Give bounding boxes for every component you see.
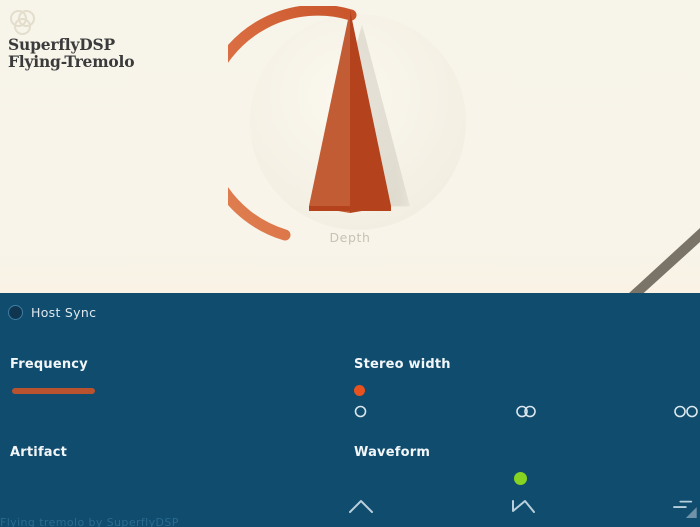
- separate-two-circles-icon[interactable]: [673, 404, 699, 419]
- triangle-wave-icon[interactable]: [348, 498, 374, 518]
- overlapping-circles-logo-icon: [8, 8, 42, 38]
- brand-line-1: SuperflyDSP: [8, 36, 134, 53]
- frequency-slider[interactable]: [12, 388, 95, 394]
- stereo-width-selected-indicator: [354, 385, 365, 396]
- mono-single-circle-icon[interactable]: [353, 404, 368, 419]
- radio-circle-icon[interactable]: [8, 305, 23, 320]
- artifact-label: Artifact: [10, 445, 67, 460]
- depth-knob[interactable]: Depth: [228, 6, 472, 254]
- waveform-label: Waveform: [354, 445, 430, 460]
- overlapping-two-circles-icon[interactable]: [513, 404, 539, 419]
- stereo-width-label: Stereo width: [354, 357, 451, 372]
- brand-line-2: Flying-Tremolo: [8, 53, 134, 70]
- control-panel: [0, 293, 700, 527]
- logo-ring-3: [14, 18, 31, 35]
- knob-pointer-cone: [228, 6, 472, 254]
- host-sync-toggle[interactable]: Host Sync: [8, 303, 96, 321]
- plugin-window: SuperflyDSP Flying-Tremolo: [0, 0, 700, 527]
- top-panel: SuperflyDSP Flying-Tremolo: [0, 0, 700, 293]
- host-sync-label: Host Sync: [31, 305, 96, 320]
- knob-label: Depth: [228, 230, 472, 245]
- footer-clipped-text: Flying tremolo by SuperflyDSP: [0, 518, 700, 527]
- waveform-selected-indicator: [514, 472, 527, 485]
- brand-title: SuperflyDSP Flying-Tremolo: [8, 36, 134, 70]
- sawtooth-wave-icon[interactable]: [510, 498, 536, 518]
- control-panel-shape: [0, 293, 700, 527]
- ramp-wave-icon[interactable]: [670, 498, 698, 518]
- footer-text: Flying tremolo by SuperflyDSP: [0, 518, 700, 527]
- frequency-label: Frequency: [10, 357, 88, 372]
